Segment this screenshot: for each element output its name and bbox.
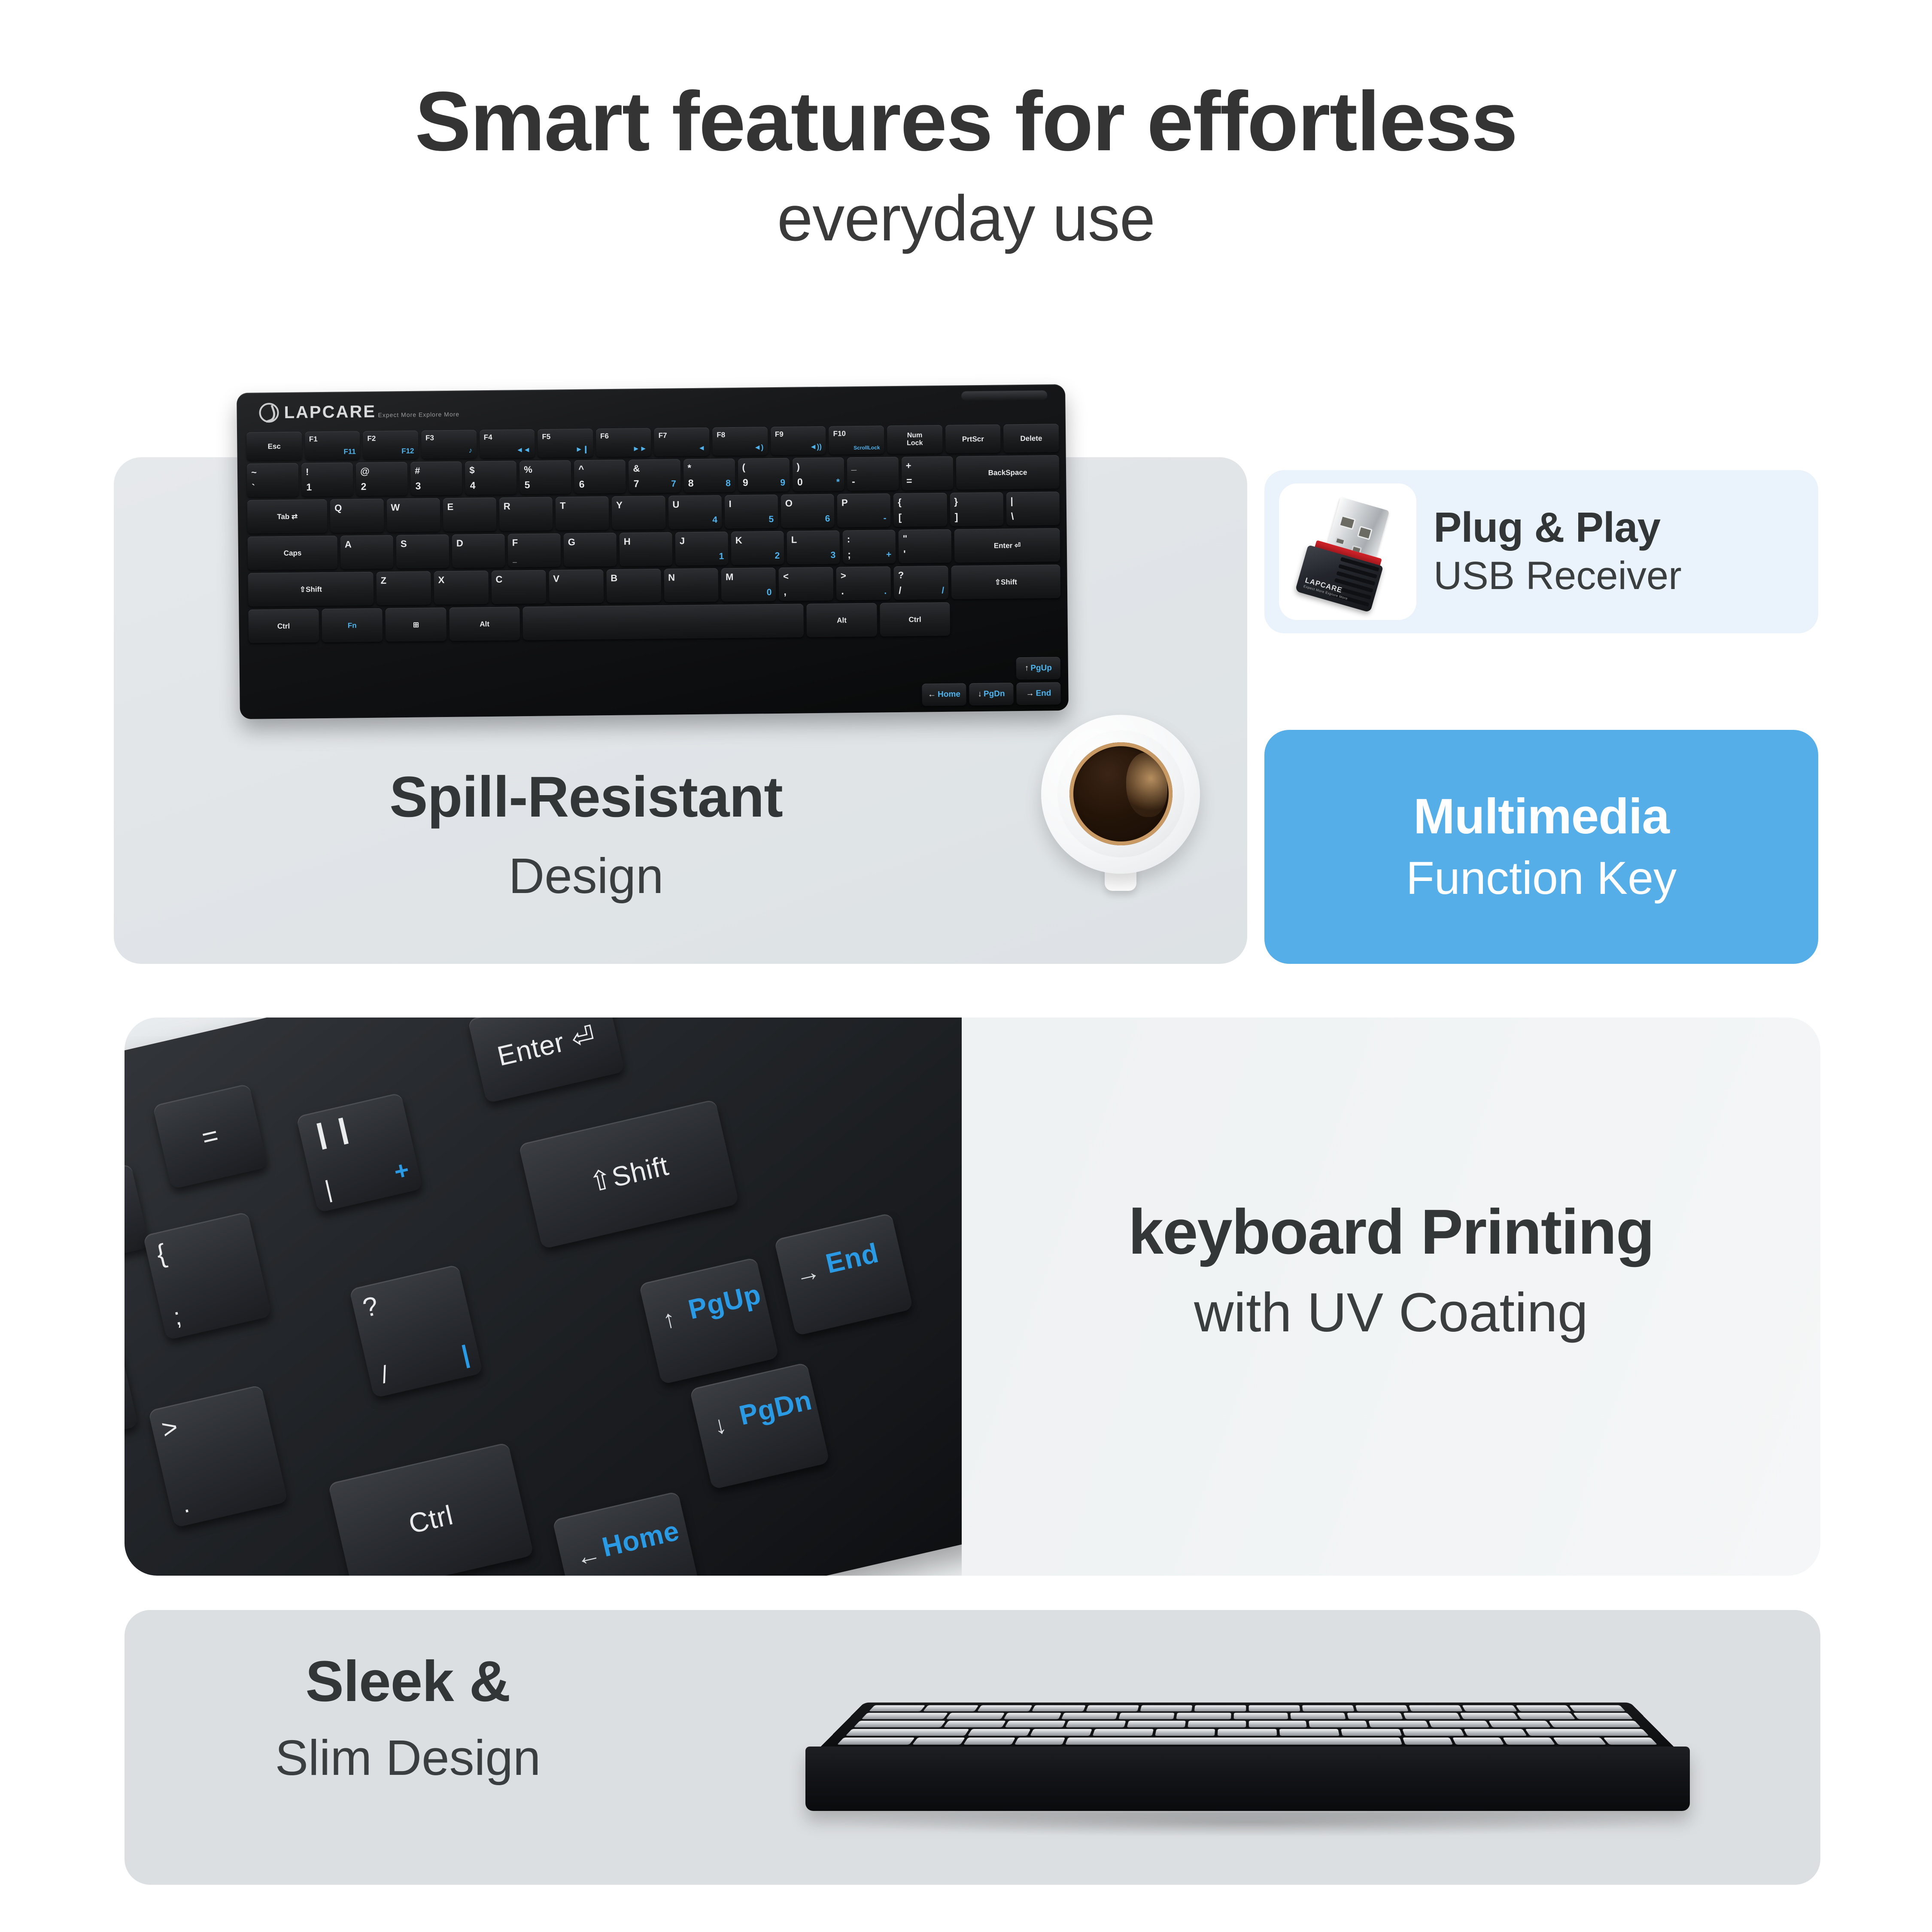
key-b: B — [606, 569, 661, 603]
profile-row-2 — [861, 1713, 1633, 1719]
key-space — [522, 604, 804, 640]
key-f3-music: F3♪ — [421, 430, 477, 459]
key-arrow-down-pgdn: ↓PgDn — [969, 683, 1014, 705]
key-arrow-right-end: →End — [1016, 682, 1061, 705]
closeup-key-equals: = — [152, 1083, 268, 1189]
spill-title: Spill-Resistant — [114, 764, 1058, 830]
key-p: P- — [837, 493, 891, 527]
key-shift-right: ⇧Shift — [951, 565, 1061, 599]
multimedia-subtitle: Function Key — [1406, 851, 1677, 905]
key-t: T — [556, 496, 609, 530]
key-fn: Fn — [322, 608, 383, 642]
key-s: S — [396, 535, 450, 568]
key-a: A — [340, 535, 394, 569]
key-l: L3 — [787, 530, 840, 564]
key-numlock: NumLock — [887, 425, 942, 454]
key-f2: F2F12 — [363, 431, 418, 459]
key-capslock: Caps — [248, 536, 338, 570]
key-backslash: |\ — [1006, 492, 1060, 526]
key-enter: Enter ⏎ — [954, 528, 1060, 563]
key-r: R — [499, 497, 553, 531]
slim-title: Sleek & — [193, 1649, 623, 1714]
key-bracket-right: }] — [950, 492, 1003, 526]
keyboard-number-row: ~` !1 @2 #3 $4 %5 ^6 &77 *88 (99 )0* _- … — [247, 455, 1060, 497]
key-9: (99 — [738, 458, 790, 492]
key-bracket-left: {[ — [893, 493, 947, 527]
key-4: $4 — [465, 461, 517, 495]
key-q: Q — [330, 499, 384, 533]
key-f1: F1F11 — [305, 431, 360, 460]
page-header: Smart features for effortless everyday u… — [0, 77, 1932, 255]
key-0: )0* — [792, 457, 844, 491]
key-2: @2 — [356, 462, 408, 496]
key-3: #3 — [410, 462, 462, 495]
page-title: Smart features for effortless — [0, 77, 1932, 166]
key-6: ^6 — [574, 460, 626, 494]
brand-tagline: Expect More Explore More — [378, 411, 459, 419]
closeup-key-shift: ⇧Shift — [518, 1099, 739, 1249]
keyboard-bottom-row: Ctrl Fn ⊞ Alt Alt Ctrl — [248, 601, 1061, 643]
key-minus: _- — [847, 457, 899, 491]
key-alt-left: Alt — [449, 607, 519, 641]
key-j: J1 — [675, 532, 729, 565]
key-d: D — [452, 534, 505, 568]
brand-name: LAPCARE — [284, 402, 376, 422]
multimedia-title: Multimedia — [1413, 789, 1669, 844]
keyboard-arrow-cluster: ↑PgUp ←Home ↓PgDn →End — [919, 657, 1061, 706]
sleek-slim-caption: Sleek & Slim Design — [193, 1649, 623, 1786]
key-c: C — [491, 570, 546, 604]
key-arrow-left-home: ←Home — [922, 683, 966, 706]
keyboard-closeup-plate: = Enter ⏎ – ❙❙|+ {; ⇧Shift 3 ?/| >. Ctrl… — [125, 1018, 962, 1576]
key-ctrl-left: Ctrl — [248, 609, 319, 643]
slim-subtitle: Slim Design — [193, 1729, 623, 1786]
closeup-key-pgup: ↑ PgUp — [639, 1257, 779, 1385]
keyboard-profile-keys — [835, 1705, 1659, 1747]
uv-coating-caption: keyboard Printing with UV Coating — [970, 1198, 1812, 1344]
coffee-liquid — [1069, 742, 1173, 845]
key-y: Y — [612, 496, 665, 530]
keyboard-closeup-photo: = Enter ⏎ – ❙❙|+ {; ⇧Shift 3 ?/| >. Ctrl… — [125, 1018, 962, 1576]
key-f9-volume-up: F9◄)) — [771, 426, 826, 455]
key-k: K2 — [731, 531, 784, 565]
key-arrow-up-pgup: ↑PgUp — [1016, 657, 1061, 680]
closeup-key-greater-period: >. — [148, 1385, 288, 1528]
usb-receiver-icon: LAPCARE Expect More Explore More — [1292, 491, 1406, 611]
key-g: G — [564, 533, 617, 567]
key-f4-prev: F4◄◄ — [480, 429, 535, 458]
key-5: %5 — [519, 460, 571, 494]
usb-title: Plug & Play — [1434, 504, 1682, 551]
keyboard-key-rows: Esc F1F11 F2F12 F3♪ F4◄◄ F5►❙ F6►► F7◄ F… — [246, 424, 1061, 646]
key-i: I5 — [724, 495, 778, 529]
uv-subtitle: with UV Coating — [970, 1281, 1812, 1344]
key-f: F_ — [508, 533, 561, 567]
key-alt-right: Alt — [806, 603, 877, 638]
closeup-key-pgdn: ↓ PgDn — [690, 1362, 830, 1490]
profile-row-1 — [869, 1705, 1626, 1711]
keyboard-drop-shadow — [841, 1813, 1657, 1837]
key-windows: ⊞ — [386, 608, 447, 641]
card-multimedia[interactable]: Multimedia Function Key — [1264, 730, 1818, 964]
coffee-cup-image — [1041, 715, 1213, 895]
key-tab: Tab ⇄ — [247, 499, 328, 534]
key-f10-scrolllock: F10ScrollLock — [829, 425, 884, 454]
spill-subtitle: Design — [114, 847, 1058, 905]
profile-row-3 — [854, 1721, 1641, 1727]
key-semicolon: :;+ — [843, 530, 896, 564]
keyboard-front-edge — [805, 1747, 1690, 1811]
key-tilde: ~` — [247, 463, 299, 497]
keyboard-home-row: Caps A S D F_ G H J1 K2 L3 :;+ "' Enter … — [248, 528, 1060, 570]
keyboard-deck — [816, 1702, 1679, 1752]
keyboard-shift-row: ⇧Shift Z X C V B N M0 <, >.. ?// ⇧Shift — [248, 565, 1060, 607]
key-ctrl-right: Ctrl — [880, 602, 950, 637]
key-z: Z — [376, 571, 431, 605]
keyboard-function-row: Esc F1F11 F2F12 F3♪ F4◄◄ F5►❙ F6►► F7◄ F… — [246, 424, 1059, 461]
keyboard-profile-photo — [790, 1649, 1704, 1855]
key-x: X — [434, 571, 489, 605]
key-f7-volume-down: F7◄ — [654, 428, 709, 456]
key-8: *88 — [683, 459, 735, 492]
key-period: >.. — [836, 566, 891, 600]
page-subtitle: everyday use — [0, 181, 1932, 255]
key-f5-play: F5►❙ — [538, 428, 593, 457]
closeup-key-enter: Enter ⏎ — [468, 1018, 625, 1103]
key-u: U4 — [668, 495, 722, 529]
keyboard-qwerty-row: Tab ⇄ Q W E R T Y U4 I5 O6 P- {[ }] |\ — [247, 492, 1060, 534]
closeup-key-question-slash: ?/| — [349, 1264, 483, 1398]
key-quote: "' — [899, 529, 952, 563]
key-v: V — [549, 569, 604, 603]
key-w: W — [386, 498, 440, 532]
closeup-key-brace-semicolon: {; — [143, 1212, 272, 1340]
key-backspace: BackSpace — [956, 455, 1060, 490]
key-equals: += — [901, 456, 953, 490]
key-f6-next: F6►► — [596, 428, 651, 457]
key-shift-left: ⇧Shift — [248, 572, 374, 607]
key-f8-mute: F8◄) — [712, 427, 768, 456]
key-n: N — [664, 568, 719, 602]
closeup-key-3-numpad: 3 — [125, 1330, 138, 1444]
plug-and-play-caption: Plug & Play USB Receiver — [1434, 504, 1682, 599]
key-esc: Esc — [246, 432, 302, 461]
key-1: !1 — [301, 462, 353, 496]
lapcare-logo-icon — [259, 403, 279, 422]
uv-title: keyboard Printing — [970, 1198, 1812, 1267]
key-m: M0 — [721, 568, 776, 601]
key-h: H — [620, 532, 673, 566]
profile-row-5 — [837, 1738, 1657, 1745]
spill-resistant-caption: Spill-Resistant Design — [114, 764, 1058, 905]
usb-subtitle: USB Receiver — [1434, 553, 1682, 599]
key-e: E — [443, 498, 496, 532]
key-prtscr: PrtScr — [945, 424, 1001, 453]
closeup-key-ctrl: Ctrl — [328, 1442, 534, 1576]
closeup-key-pipe-plus: ❙❙|+ — [296, 1092, 423, 1212]
keyboard-brand-logo: LAPCARE Expect More Explore More — [259, 401, 459, 423]
closeup-key-minus: – — [125, 1163, 150, 1267]
coffee-crema — [1126, 753, 1167, 817]
keyboard-topdown-photo: LAPCARE Expect More Explore More Esc F1F… — [237, 384, 1069, 719]
key-comma: <, — [779, 567, 834, 601]
key-7: &77 — [629, 459, 680, 493]
card-plug-and-play[interactable]: LAPCARE Expect More Explore More Plug & … — [1264, 470, 1818, 633]
closeup-key-end: → End — [774, 1213, 914, 1336]
closeup-key-home: ← Home — [552, 1491, 701, 1576]
key-slash: ?// — [894, 566, 949, 600]
key-o: O6 — [781, 494, 835, 528]
profile-row-4 — [845, 1729, 1649, 1736]
key-delete: Delete — [1003, 424, 1059, 453]
usb-receiver-image-tile: LAPCARE Expect More Explore More — [1279, 483, 1416, 620]
usb-fins — [1330, 557, 1379, 609]
